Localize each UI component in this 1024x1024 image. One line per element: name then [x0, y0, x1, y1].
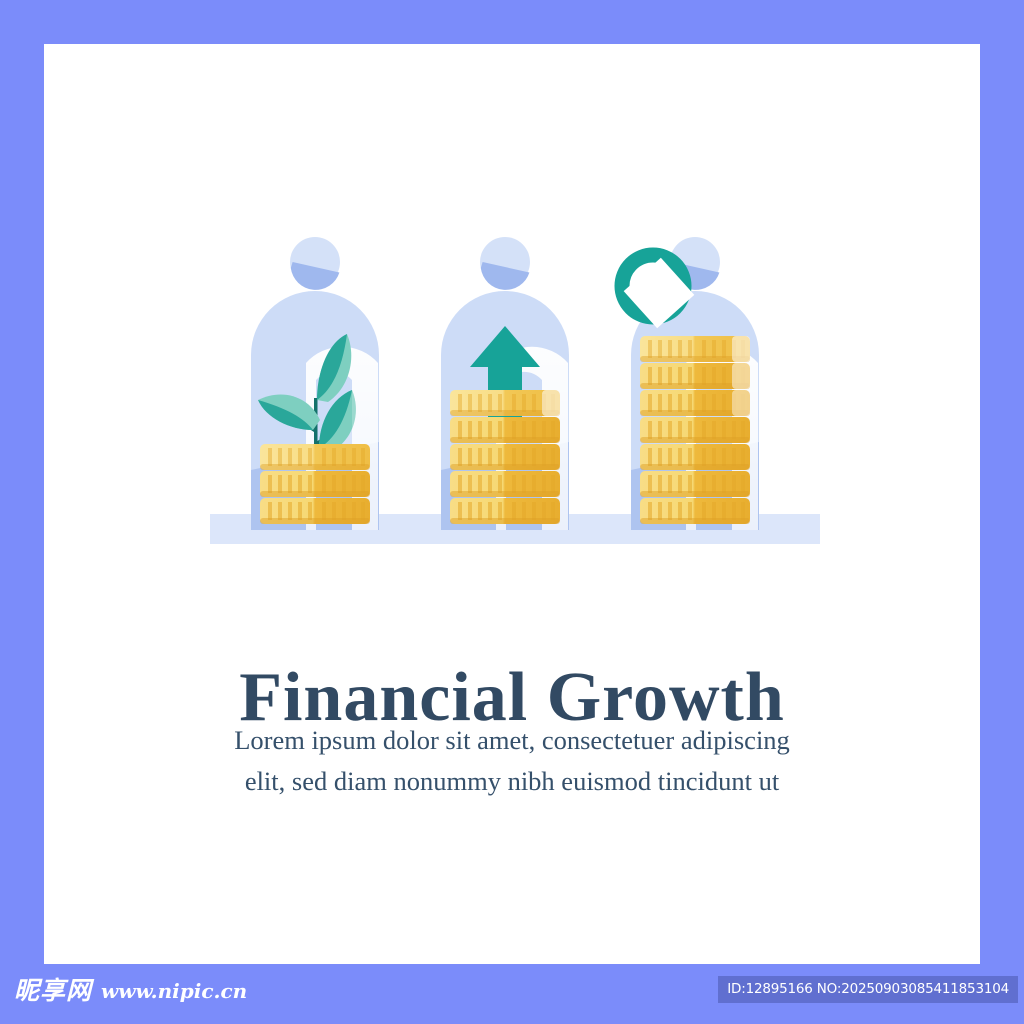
jar-middle — [441, 237, 569, 530]
asset-id-badge: ID:12895166 NO:20250903085411853104 — [718, 976, 1018, 1003]
coin — [450, 471, 560, 497]
subtitle-line-1: Lorem ipsum dolor sit amet, consectetuer… — [162, 720, 862, 761]
site-branding: 昵享网 www.nipic.cn — [14, 978, 247, 1003]
watermark-footer: 昵享网 www.nipic.cn ID:12895166 NO:20250903… — [0, 964, 1024, 1024]
coin — [640, 390, 750, 416]
jar-left — [251, 237, 379, 530]
coin — [640, 336, 750, 362]
coin — [640, 471, 750, 497]
jar-right — [622, 237, 759, 530]
coin — [640, 498, 750, 524]
coin — [640, 417, 750, 443]
coin — [640, 444, 750, 470]
subtitle-line-2: elit, sed diam nonummy nibh euismod tinc… — [162, 761, 862, 802]
jar-middle-knob — [480, 237, 530, 290]
coin-stack-middle — [450, 390, 560, 524]
coin — [640, 363, 750, 389]
coin-stack-left — [260, 444, 370, 524]
coin — [450, 390, 560, 416]
coin — [450, 417, 560, 443]
financial-growth-illustration — [210, 230, 820, 560]
coin — [450, 444, 560, 470]
coin — [450, 498, 560, 524]
brand-url: www.nipic.cn — [101, 981, 247, 1001]
coin — [260, 498, 370, 524]
page-subtitle: Lorem ipsum dolor sit amet, consectetuer… — [162, 720, 862, 802]
brand-logo-cn: 昵享网 — [14, 978, 92, 1003]
poster-canvas: Financial Growth Lorem ipsum dolor sit a… — [0, 0, 1024, 1024]
coin-stack-right — [640, 336, 750, 524]
coin — [260, 471, 370, 497]
jar-left-knob — [290, 237, 340, 290]
white-card: Financial Growth Lorem ipsum dolor sit a… — [44, 44, 980, 964]
coin — [260, 444, 370, 470]
